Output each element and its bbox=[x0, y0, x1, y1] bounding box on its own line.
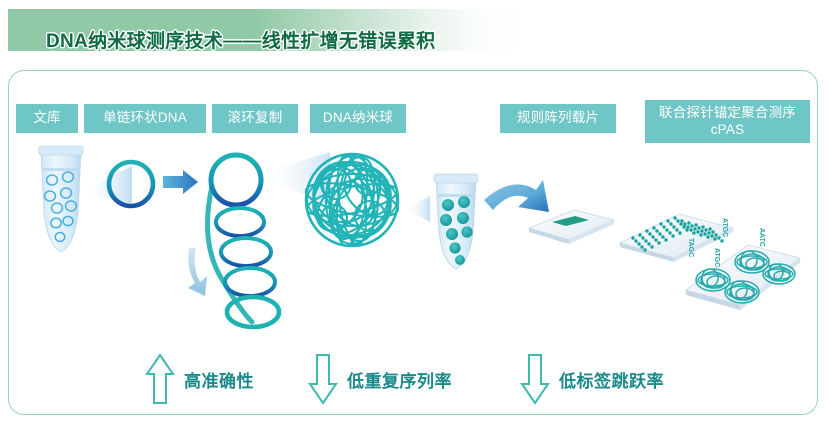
stage-label-library[interactable]: 文库 bbox=[16, 104, 78, 133]
stage-label-dna-nanoball[interactable]: DNA纳米球 bbox=[310, 104, 406, 133]
callout-low-duplication-text: 低重复序列率 bbox=[347, 367, 452, 392]
page-title: DNA纳米球测序技术——线性扩增无错误累积 bbox=[46, 26, 435, 53]
infographic-root: DNA纳米球测序技术——线性扩增无错误累积 文库 单链环状DNA 滚环复制 DN… bbox=[0, 0, 828, 438]
stage-label-cpas-line1: 联合探针锚定聚合测序 bbox=[659, 105, 796, 122]
outline-arrow-down-icon bbox=[308, 352, 338, 406]
outline-arrow-down-icon-2 bbox=[520, 352, 550, 406]
stage-label-ss-circle-dna[interactable]: 单链环状DNA bbox=[84, 104, 206, 133]
stage-label-rolling-circle[interactable]: 滚环复制 bbox=[212, 104, 298, 133]
callout-low-duplication: 低重复序列率 bbox=[308, 352, 452, 406]
outline-arrow-up-icon bbox=[145, 352, 175, 406]
callout-low-index-hopping-text: 低标签跳跃率 bbox=[559, 367, 664, 392]
callout-low-index-hopping: 低标签跳跃率 bbox=[520, 352, 664, 406]
stage-label-patterned-array[interactable]: 规则阵列载片 bbox=[500, 104, 616, 133]
stage-label-cpas-line2: cPAS bbox=[711, 122, 745, 139]
stage-label-cpas[interactable]: 联合探针锚定聚合测序 cPAS bbox=[645, 100, 810, 143]
title-band: DNA纳米球测序技术——线性扩增无错误累积 bbox=[8, 9, 820, 51]
callout-high-accuracy-text: 高准确性 bbox=[184, 367, 254, 392]
callout-high-accuracy: 高准确性 bbox=[145, 352, 254, 406]
